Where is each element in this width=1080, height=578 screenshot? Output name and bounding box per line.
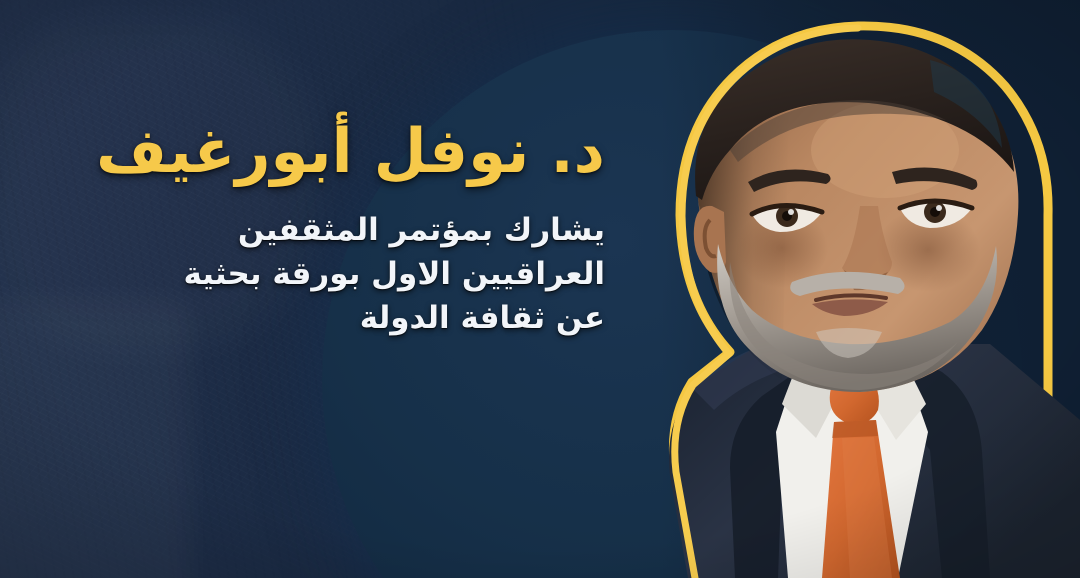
- text-block: د. نوفل أبورغيف يشارك بمؤتمر المثقفين ال…: [60, 118, 605, 340]
- page-title: د. نوفل أبورغيف: [60, 118, 605, 186]
- subtitle-line-3: عن ثقافة الدولة: [60, 296, 605, 340]
- background-light-patch-bottom: [0, 300, 190, 578]
- subtitle-line-1: يشارك بمؤتمر المثقفين: [60, 208, 605, 252]
- subtitle-group: يشارك بمؤتمر المثقفين العراقيين الاول بو…: [60, 208, 605, 340]
- subtitle-line-2: العراقيين الاول بورقة بحثية: [60, 252, 605, 296]
- news-graphic-card: د. نوفل أبورغيف يشارك بمؤتمر المثقفين ال…: [0, 0, 1080, 578]
